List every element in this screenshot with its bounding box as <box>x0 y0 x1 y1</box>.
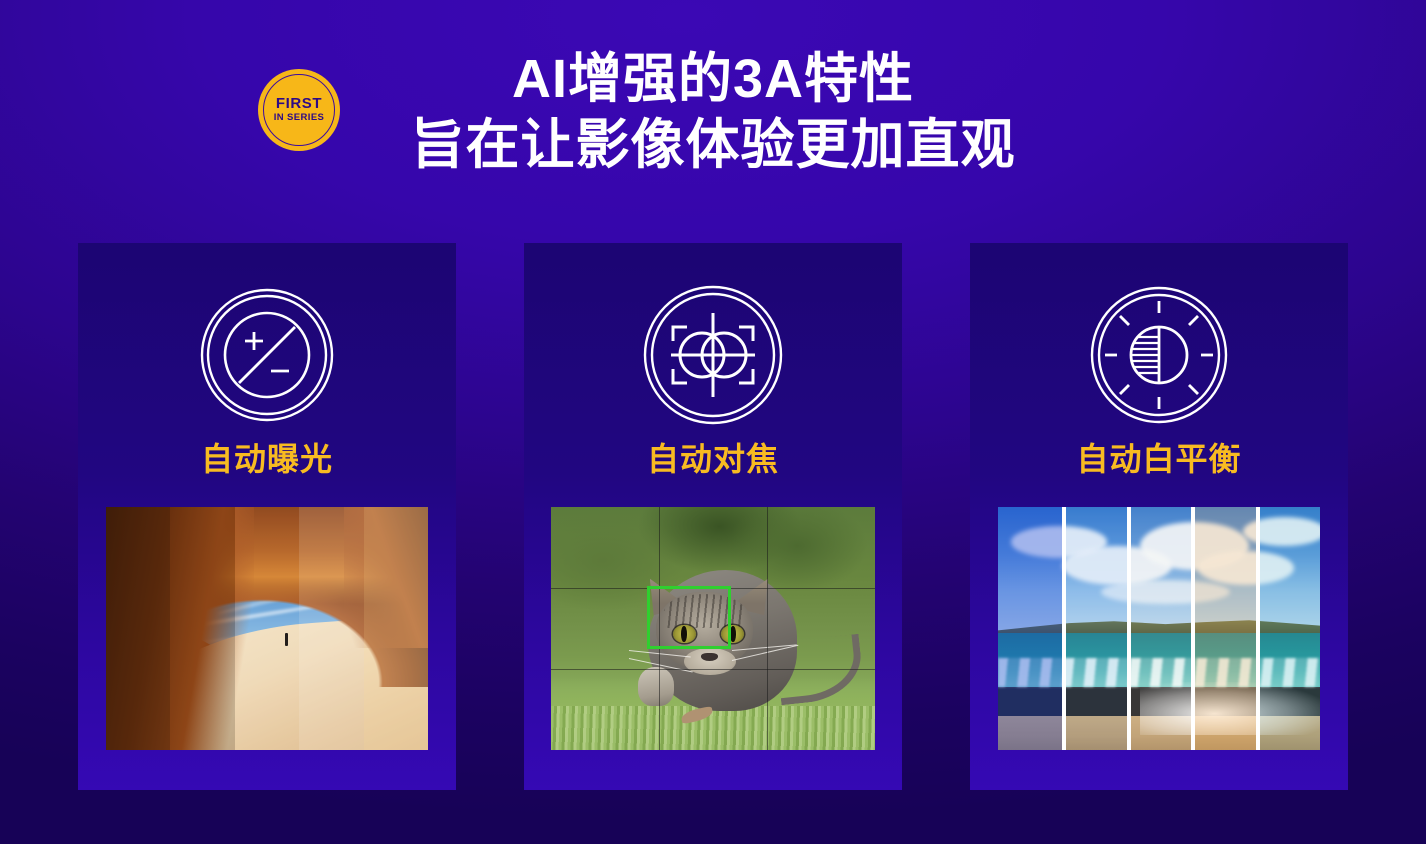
feature-card-auto-focus[interactable]: 自动对焦 <box>524 243 902 790</box>
exposure-band-4 <box>299 507 363 750</box>
card-label-auto-white-balance: 自动白平衡 <box>1076 441 1241 477</box>
card-label-auto-exposure: 自动曝光 <box>201 441 333 477</box>
ground-leaf <box>680 705 714 724</box>
wb-strip-5 <box>1256 507 1320 750</box>
exposure-band-overlay <box>106 507 428 750</box>
exposure-band-2 <box>170 507 234 750</box>
white-balance-strip-dividers <box>998 507 1320 750</box>
kitten-photo <box>551 507 875 750</box>
exposure-band-1 <box>106 507 170 750</box>
wb-strip-4 <box>1191 507 1255 750</box>
header: FIRST IN SERIES AI增强的3A特性 旨在让影像体验更加直观 <box>0 28 1426 188</box>
first-in-series-badge: FIRST IN SERIES <box>258 69 340 151</box>
exposure-band-3 <box>235 507 299 750</box>
slide-root: FIRST IN SERIES AI增强的3A特性 旨在让影像体验更加直观 <box>0 0 1426 844</box>
beach-coast-photo <box>998 507 1320 750</box>
card-label-auto-focus: 自动对焦 <box>647 441 779 477</box>
exposure-compensation-icon <box>199 281 335 429</box>
wb-strip-2 <box>1062 507 1126 750</box>
feature-card-auto-white-balance[interactable]: 自动白平衡 <box>970 243 1348 790</box>
feature-card-row: 自动曝光 <box>0 243 1426 793</box>
autofocus-target-icon <box>641 281 785 429</box>
exposure-band-5 <box>364 507 428 750</box>
kitten-paw <box>638 667 674 706</box>
focus-box <box>647 586 731 649</box>
wb-strip-1 <box>998 507 1062 750</box>
kitten-nose <box>701 653 717 661</box>
white-balance-sun-icon <box>1088 281 1230 429</box>
badge-line-2: IN SERIES <box>274 112 325 124</box>
canyon-arch-photo <box>106 507 428 750</box>
feature-card-auto-exposure[interactable]: 自动曝光 <box>78 243 456 790</box>
wb-strip-3 <box>1127 507 1191 750</box>
badge-line-1: FIRST <box>276 96 322 111</box>
